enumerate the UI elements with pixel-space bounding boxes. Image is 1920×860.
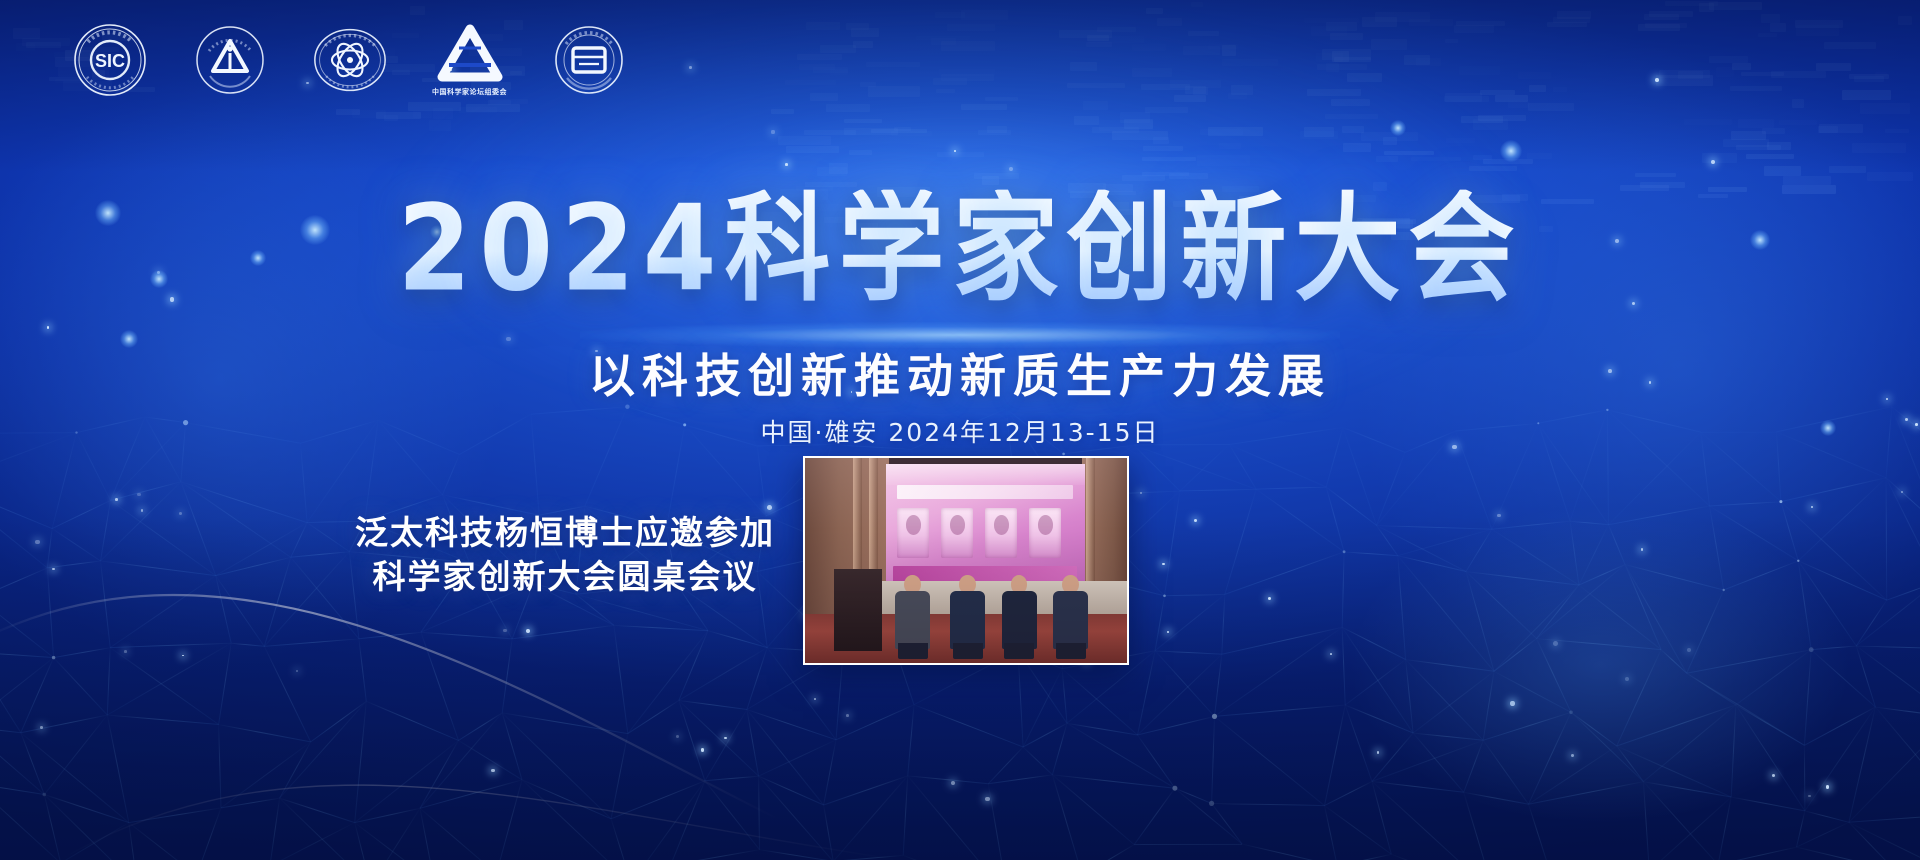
main-title-wrap: 2024科学家创新大会 (0, 196, 1920, 302)
banner-stage: SIC (0, 0, 1920, 860)
svg-text:SIC: SIC (95, 51, 125, 71)
atom-oval-seal-logo (312, 22, 388, 98)
round-emblem-logo (551, 22, 627, 98)
caption-line-2: 科学家创新大会圆桌会议 (330, 555, 800, 599)
photo-haze-overlay (805, 458, 1127, 663)
background-bottom-right-glow (1340, 500, 1860, 830)
main-title: 2024科学家创新大会 (397, 190, 1522, 309)
triangle-seal-logo (192, 22, 268, 98)
triangle-ribbon-logo: 中国科学家论坛组委会 (432, 23, 507, 97)
triangle-ribbon-logo-wordmark: 中国科学家论坛组委会 (432, 87, 507, 97)
date-location-line: 中国·雄安 2024年12月13-15日 (0, 413, 1920, 449)
logo-row: SIC (72, 22, 627, 98)
sub-title: 以科技创新推动新质生产力发展 (0, 340, 1920, 406)
sic-seal-logo: SIC (72, 22, 148, 98)
caption-line-1: 泛太科技杨恒博士应邀参加 (330, 511, 800, 555)
conference-photo (803, 456, 1129, 665)
caption-block: 泛太科技杨恒博士应邀参加 科学家创新大会圆桌会议 (330, 511, 800, 598)
